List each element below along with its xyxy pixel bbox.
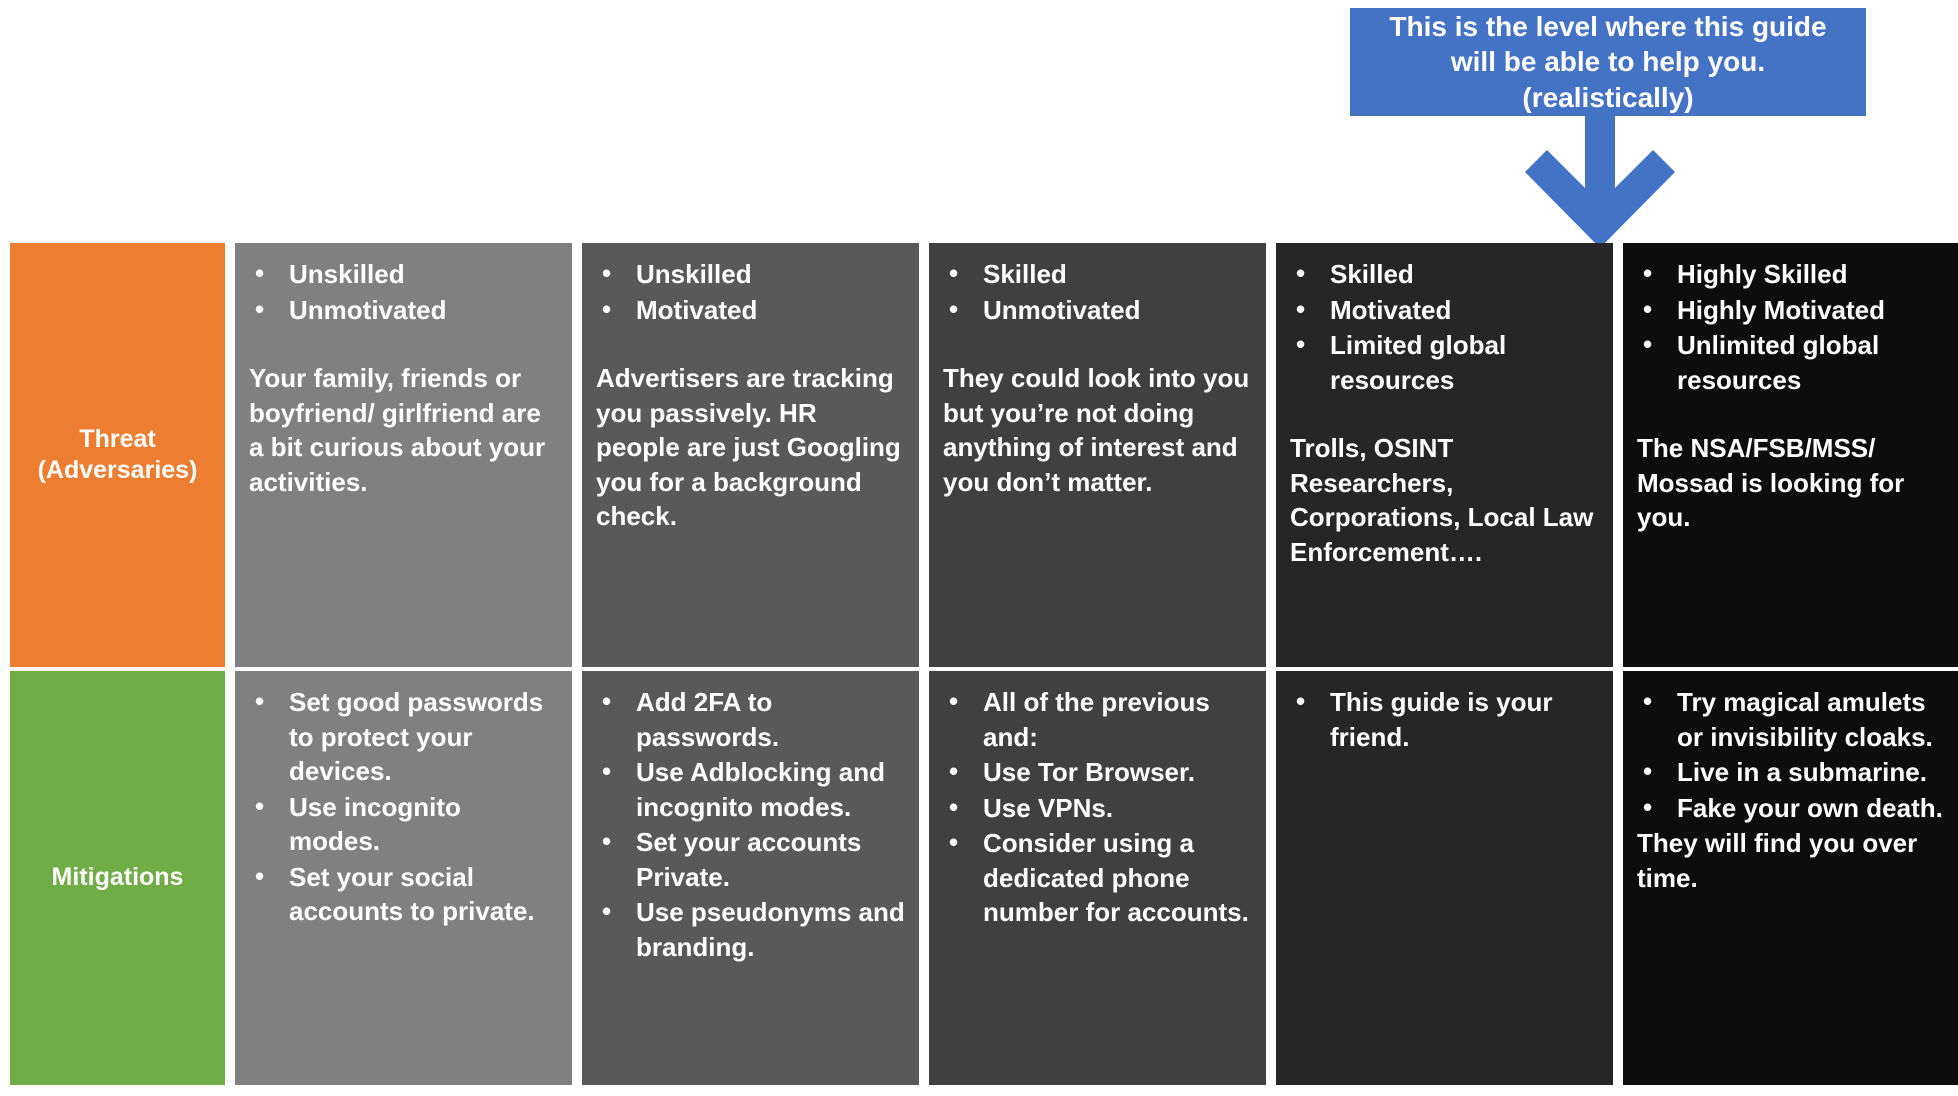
list-item: Unmotivated [249,293,558,328]
threat-description-level-3: They could look into you but you’re not … [943,361,1252,499]
mitigations-cell-level-3: All of the previous and: Use Tor Browser… [929,671,1266,1085]
mitigations-bullets-level-2: Add 2FA to passwords. Use Adblocking and… [596,685,905,965]
threat-cell-level-1: Unskilled Unmotivated Your family, frien… [235,243,572,667]
list-item: Use VPNs. [943,791,1252,826]
threat-bullets-level-1: Unskilled Unmotivated [249,257,558,327]
list-item: Highly Motivated [1637,293,1955,328]
list-item: Use pseudonyms and branding. [596,895,905,964]
mitigations-bullets-level-5: Try magical amulets or invisibility cloa… [1637,685,1955,825]
threat-bullets-level-4: Skilled Motivated Limited global resourc… [1290,257,1599,397]
threat-bullets-level-3: Skilled Unmotivated [943,257,1252,327]
list-item: Consider using a dedicated phone number … [943,826,1252,930]
threat-description-level-4: Trolls, OSINT Researchers, Corporations,… [1290,431,1599,569]
list-item: Live in a submarine. [1637,755,1955,790]
mitigations-bullets-level-3: All of the previous and: Use Tor Browser… [943,685,1252,930]
list-item: Unlimited global resources [1637,328,1955,397]
mitigations-cell-level-1: Set good passwords to protect your devic… [235,671,572,1085]
mitigations-cell-level-4: This guide is your friend. [1276,671,1613,1085]
threat-cell-level-3: Skilled Unmotivated They could look into… [929,243,1266,667]
row-header-mitigations-label: Mitigations [52,862,184,893]
callout-box: This is the level where this guide will … [1350,8,1866,116]
arrow-down-icon [1525,114,1675,248]
mitigations-bullets-level-4: This guide is your friend. [1290,685,1599,754]
row-header-mitigations: Mitigations [10,671,225,1085]
list-item: Set your social accounts to private. [249,860,558,929]
list-item: Highly Skilled [1637,257,1955,292]
mitigations-cell-level-5: Try magical amulets or invisibility cloa… [1623,671,1958,1085]
row-header-threat-label: Threat (Adversaries) [38,424,198,487]
callout-line-2: will be able to help you. [1451,44,1765,79]
callout-line-3: (realistically) [1522,80,1693,115]
threat-cell-level-2: Unskilled Motivated Advertisers are trac… [582,243,919,667]
list-item: All of the previous and: [943,685,1252,754]
list-item: Unskilled [249,257,558,292]
list-item: This guide is your friend. [1290,685,1599,754]
threat-description-level-5: The NSA/FSB/MSS/ Mossad is looking for y… [1637,431,1955,535]
list-item: Unskilled [596,257,905,292]
mitigations-description-level-5: They will find you over time. [1637,826,1955,895]
threat-description-level-2: Advertisers are tracking you passively. … [596,361,905,534]
threat-cell-level-4: Skilled Motivated Limited global resourc… [1276,243,1613,667]
list-item: Use incognito modes. [249,790,558,859]
list-item: Skilled [943,257,1252,292]
list-item: Use Adblocking and incognito modes. [596,755,905,824]
threat-bullets-level-5: Highly Skilled Highly Motivated Unlimite… [1637,257,1955,397]
mitigations-bullets-level-1: Set good passwords to protect your devic… [249,685,558,929]
list-item: Limited global resources [1290,328,1599,397]
list-item: Motivated [1290,293,1599,328]
list-item: Skilled [1290,257,1599,292]
mitigations-cell-level-2: Add 2FA to passwords. Use Adblocking and… [582,671,919,1085]
list-item: Use Tor Browser. [943,755,1252,790]
callout-line-1: This is the level where this guide [1389,9,1826,44]
threat-cell-level-5: Highly Skilled Highly Motivated Unlimite… [1623,243,1958,667]
list-item: Motivated [596,293,905,328]
list-item: Fake your own death. [1637,791,1955,826]
list-item: Set your accounts Private. [596,825,905,894]
list-item: Unmotivated [943,293,1252,328]
list-item: Set good passwords to protect your devic… [249,685,558,789]
threat-description-level-1: Your family, friends or boyfriend/ girlf… [249,361,558,499]
row-header-threat: Threat (Adversaries) [10,243,225,667]
threat-model-matrix: Threat (Adversaries) Unskilled Unmotivat… [10,243,1937,1081]
threat-bullets-level-2: Unskilled Motivated [596,257,905,327]
list-item: Try magical amulets or invisibility cloa… [1637,685,1955,754]
list-item: Add 2FA to passwords. [596,685,905,754]
